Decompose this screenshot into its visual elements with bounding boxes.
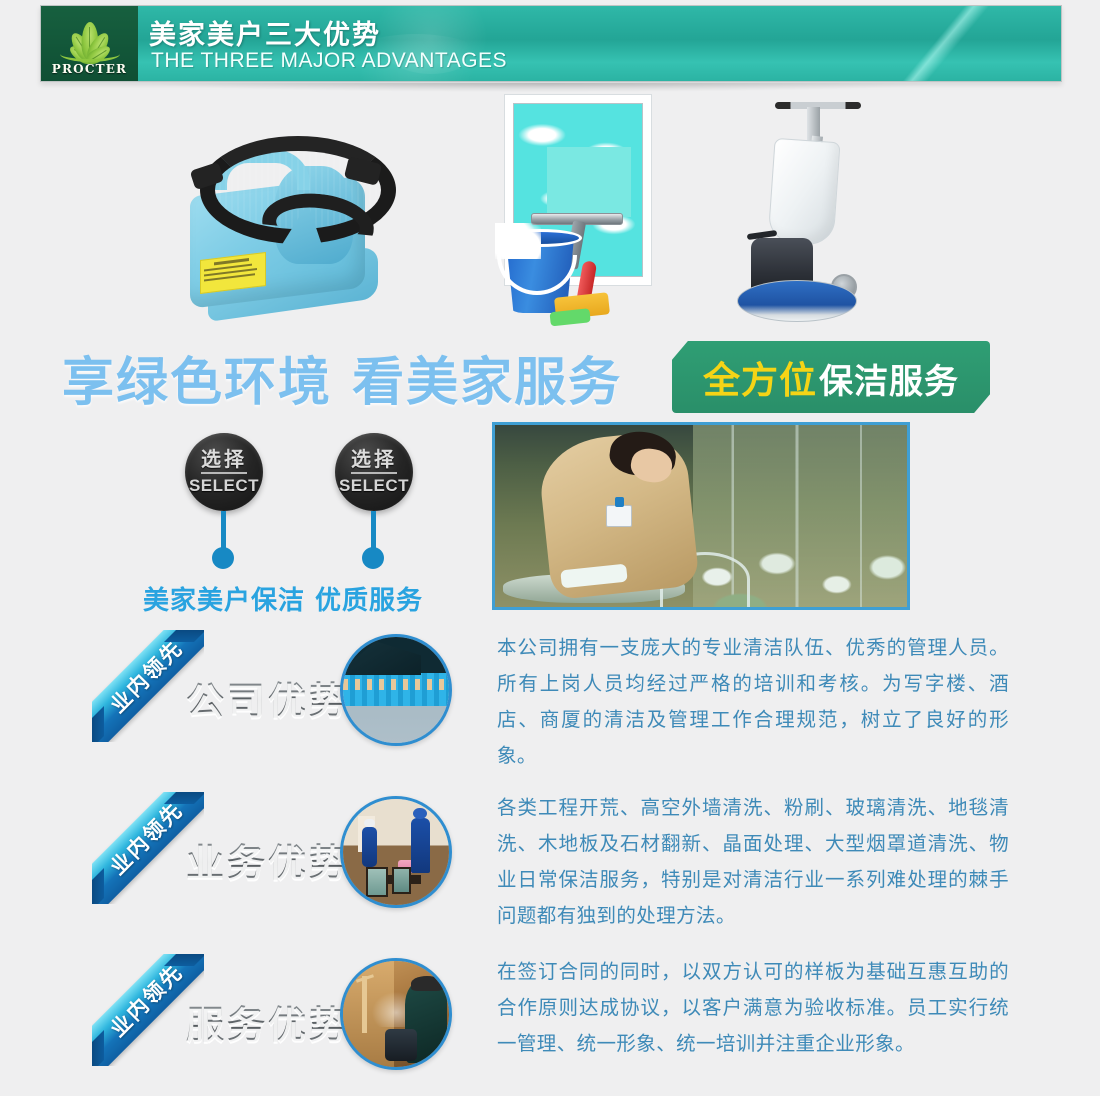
connector-dot-1 xyxy=(212,547,234,569)
badge-rest-text: 保洁服务 xyxy=(819,354,959,403)
company-logo: PROCTER xyxy=(41,6,138,81)
worker-id-badge xyxy=(606,505,632,527)
select-label-2: 优质服务 xyxy=(315,580,423,617)
sponge-icon xyxy=(554,292,610,320)
banner-sheen xyxy=(800,5,1062,82)
hero-worker-photo xyxy=(492,422,910,610)
select-badge-2-en: SELECT xyxy=(339,476,409,496)
select-badge-1-en: SELECT xyxy=(189,476,259,496)
advantage-block-company: 业内领先 公司优势 公司优势 本公司拥有一支庞大的专业清洁队伍、优秀的管理人员。… xyxy=(0,628,1100,786)
advantage-body-3: 在签订合同的同时，以双方认可的样板为基础互惠互助的合作原则达成协议，以客户满意为… xyxy=(497,954,1009,1062)
page-root: PROCTER 美家美户三大优势 THE THREE MAJOR ADVANTA… xyxy=(0,0,1100,1096)
advantage-title-2: 业务优势 xyxy=(186,832,350,887)
ribbon-text-2: 业内领先 xyxy=(103,795,189,881)
service-scope-badge: 全方位 保洁服务 xyxy=(672,341,990,413)
select-badge-2[interactable]: 选择 SELECT xyxy=(335,433,413,511)
main-headline: 享绿色环境 看美家服务 xyxy=(62,340,622,415)
advantage-photo-2 xyxy=(340,796,452,908)
connector-line-1 xyxy=(221,511,226,551)
ribbon-text-3: 业内领先 xyxy=(103,957,189,1043)
select-badge-2-cn: 选择 xyxy=(351,449,397,474)
advantage-block-business: 业内领先 业务优势 业务优势 各类工程开荒、高空外墙清洗、粉刷、玻璃清洗、地毯清… xyxy=(0,790,1100,948)
window-cleaning-image xyxy=(495,95,655,320)
advantage-block-service: 业内领先 服务优势 服务优势 在签订合同的同时，以双方认可的样板为基础互惠互助的… xyxy=(0,952,1100,1096)
select-badge-group: 选择 SELECT 美家美户保洁 选择 SELECT 优质服务 xyxy=(0,425,480,620)
ribbon-text-1: 业内领先 xyxy=(103,633,189,719)
advantage-title-3: 服务优势 xyxy=(186,994,350,1049)
banner-title-cn: 美家美户三大优势 xyxy=(149,13,381,52)
advantage-body-1: 本公司拥有一支庞大的专业清洁队伍、优秀的管理人员。所有上岗人员均经过严格的培训和… xyxy=(497,630,1009,774)
floor-polisher-image xyxy=(735,98,915,328)
ulv-sprayer-image xyxy=(170,108,400,323)
select-badge-1[interactable]: 选择 SELECT xyxy=(185,433,263,511)
select-label-1: 美家美户保洁 xyxy=(143,580,305,617)
header-banner: PROCTER 美家美户三大优势 THE THREE MAJOR ADVANTA… xyxy=(40,5,1062,82)
advantage-title-1: 公司优势 xyxy=(186,670,350,725)
product-image-row xyxy=(0,90,1100,340)
advantage-body-2: 各类工程开荒、高空外墙清洗、粉刷、玻璃清洗、地毯清洗、木地板及石材翻新、晶面处理… xyxy=(497,790,1009,934)
badge-highlight-text: 全方位 xyxy=(703,350,817,404)
advantage-photo-3 xyxy=(340,958,452,1070)
select-badge-1-cn: 选择 xyxy=(201,449,247,474)
advantage-photo-1 xyxy=(340,634,452,746)
connector-line-2 xyxy=(371,511,376,551)
connector-dot-2 xyxy=(362,547,384,569)
leaf-icon xyxy=(52,16,128,62)
banner-title-en: THE THREE MAJOR ADVANTAGES xyxy=(151,49,507,73)
